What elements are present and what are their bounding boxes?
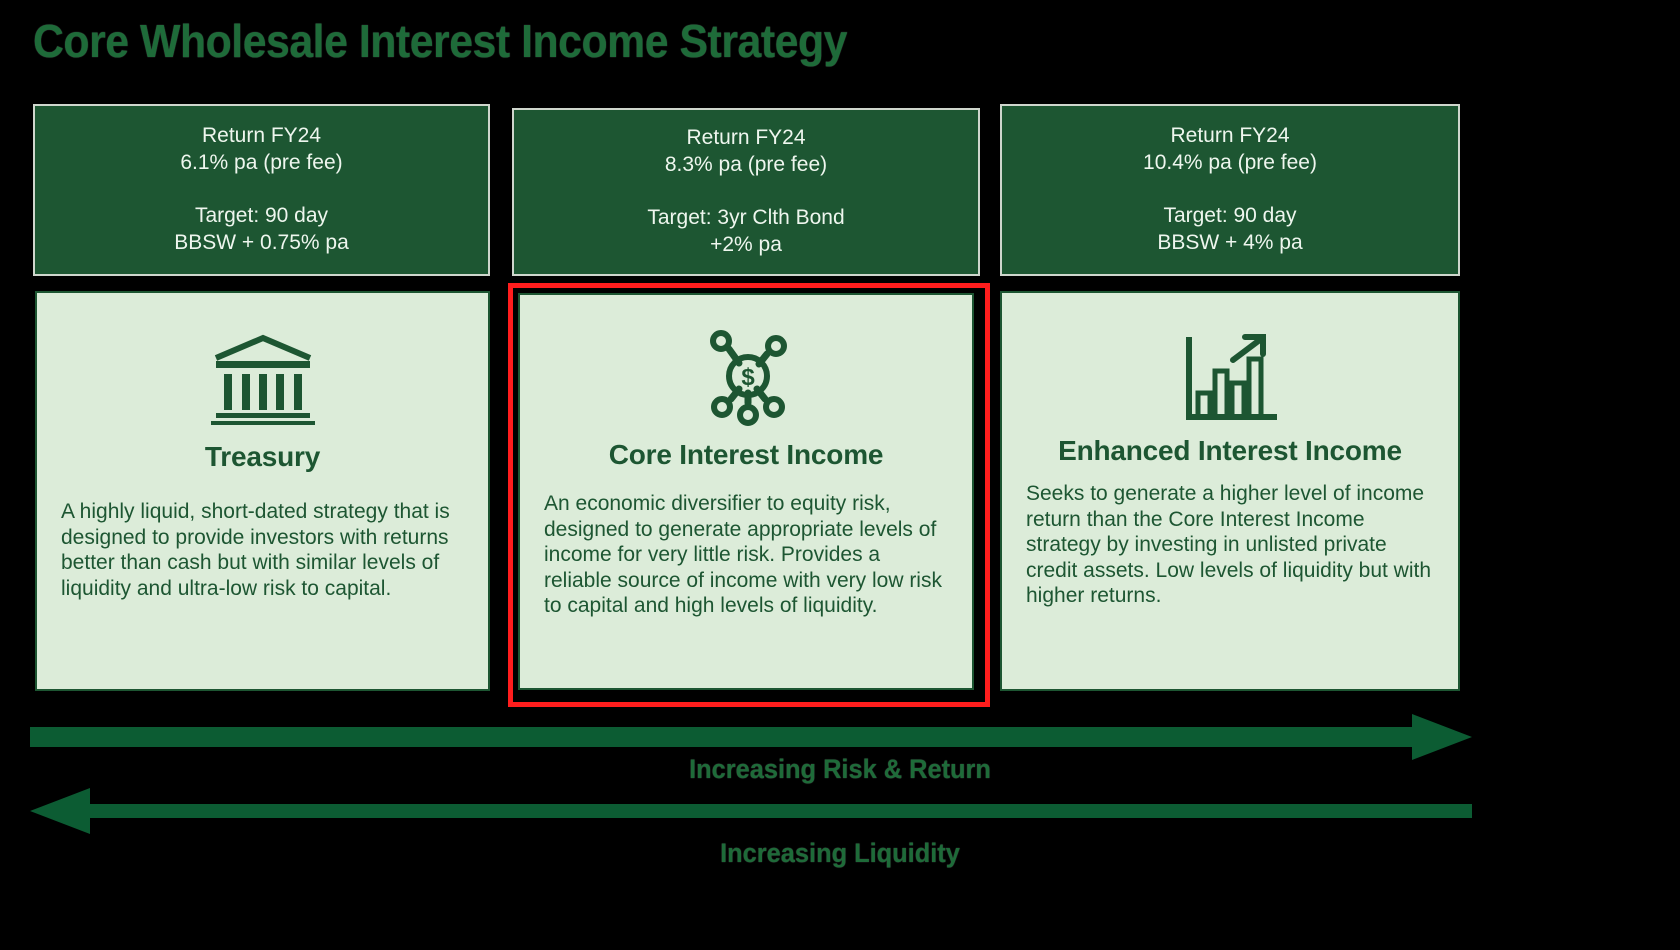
card-body: A highly liquid, short-dated strategy th…: [61, 499, 464, 601]
return-label: Return FY24: [686, 125, 805, 152]
card-title: Enhanced Interest Income: [1026, 435, 1434, 467]
return-value: 8.3% pa (pre fee): [665, 152, 827, 179]
card-body: Seeks to generate a higher level of inco…: [1026, 481, 1434, 609]
return-label: Return FY24: [1170, 123, 1289, 150]
increasing-risk-return-label: Increasing Risk & Return: [50, 754, 1629, 785]
strategy-card-core-interest-income[interactable]: $ Core Interest Income An economic diver…: [518, 293, 974, 690]
page-title: Core Wholesale Interest Income Strategy: [33, 14, 847, 68]
return-box-treasury: Return FY24 6.1% pa (pre fee) Target: 90…: [33, 104, 490, 276]
strategy-card-treasury[interactable]: Treasury A highly liquid, short-dated st…: [35, 291, 490, 691]
card-title: Core Interest Income: [544, 439, 948, 471]
target-line-1: Target: 90 day: [195, 203, 328, 230]
target-line-2: +2% pa: [710, 232, 782, 259]
increasing-liquidity-label: Increasing Liquidity: [50, 838, 1629, 869]
bank-building-icon: [61, 293, 464, 425]
money-network-icon: $: [544, 295, 948, 427]
svg-text:$: $: [741, 364, 755, 391]
return-value: 10.4% pa (pre fee): [1143, 150, 1317, 177]
card-title: Treasury: [61, 441, 464, 473]
target-line-2: BBSW + 0.75% pa: [174, 230, 349, 257]
return-box-enhanced-interest-income: Return FY24 10.4% pa (pre fee) Target: 9…: [1000, 104, 1460, 276]
target-line-1: Target: 3yr Clth Bond: [647, 205, 844, 232]
return-value: 6.1% pa (pre fee): [180, 150, 342, 177]
increasing-liquidity-arrow: [30, 788, 1472, 834]
target-line-2: BBSW + 4% pa: [1157, 230, 1302, 257]
bar-chart-growth-icon: [1026, 293, 1434, 425]
target-line-1: Target: 90 day: [1163, 203, 1296, 230]
strategy-card-enhanced-interest-income[interactable]: Enhanced Interest Income Seeks to genera…: [1000, 291, 1460, 691]
card-body: An economic diversifier to equity risk, …: [544, 491, 948, 619]
return-label: Return FY24: [202, 123, 321, 150]
return-box-core-interest-income: Return FY24 8.3% pa (pre fee) Target: 3y…: [512, 108, 980, 276]
